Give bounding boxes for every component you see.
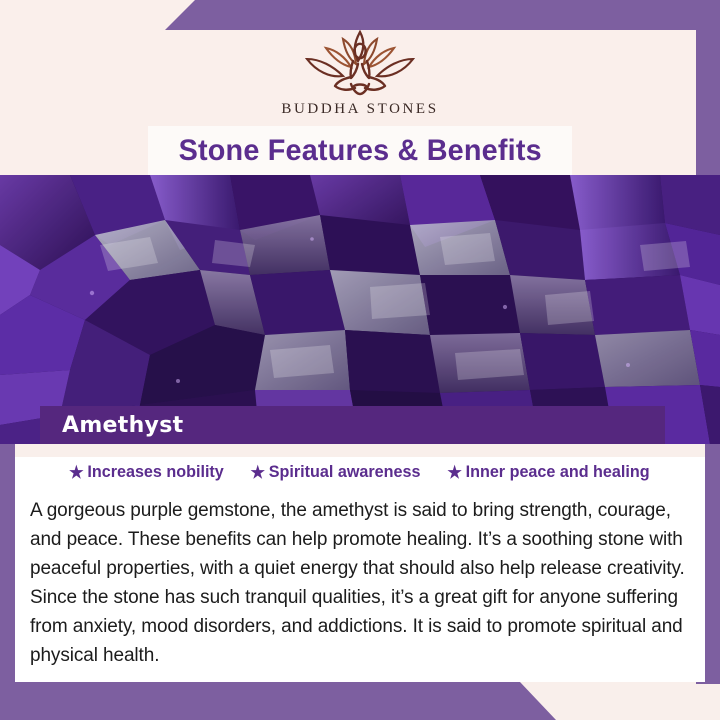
page-title-box: Stone Features & Benefits	[148, 126, 572, 175]
bottom-purple-band	[0, 682, 720, 720]
feature-item-1: ★ Increases nobility	[69, 462, 224, 482]
feature-label-1: Increases nobility	[87, 462, 223, 482]
stone-name: Amethyst	[62, 413, 183, 438]
amethyst-photo	[0, 175, 720, 444]
panel-top-divider	[15, 444, 705, 457]
stone-description: A gorgeous purple gemstone, the amethyst…	[30, 496, 690, 670]
feature-list: ★ Increases nobility ★ Spiritual awarene…	[15, 462, 705, 482]
star-icon: ★	[69, 464, 83, 481]
feature-item-3: ★ Inner peace and healing	[448, 462, 650, 482]
brand-name: BUDDHA STONES	[281, 101, 438, 118]
feature-item-2: ★ Spiritual awareness	[250, 462, 420, 482]
lotus-meditation-icon	[285, 26, 435, 98]
left-purple-band	[0, 444, 15, 690]
feature-label-3: Inner peace and healing	[466, 462, 650, 482]
star-icon: ★	[448, 464, 462, 481]
feature-label-2: Spiritual awareness	[268, 462, 420, 482]
star-icon: ★	[250, 464, 264, 481]
stone-name-banner: Amethyst	[40, 406, 665, 444]
description-panel: ★ Increases nobility ★ Spiritual awarene…	[15, 444, 705, 682]
amethyst-crystal-graphic	[0, 175, 720, 444]
page-title: Stone Features & Benefits	[178, 134, 541, 168]
infographic-card: BUDDHA STONES Stone Features & Benefits	[0, 0, 720, 720]
brand-logo: BUDDHA STONES	[0, 26, 720, 118]
